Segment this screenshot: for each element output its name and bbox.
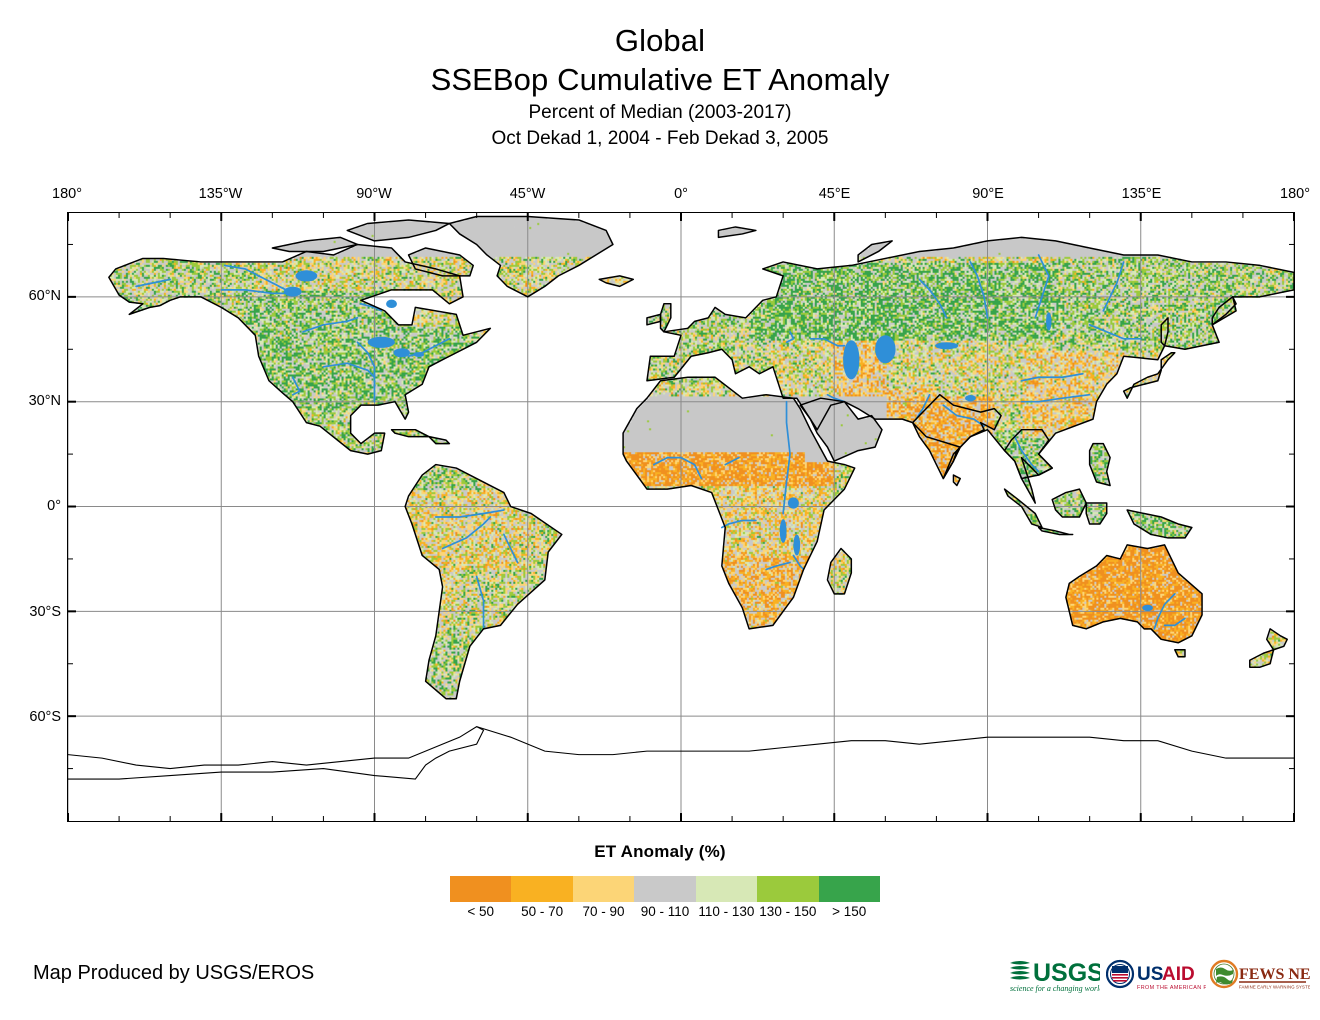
- coastline-madagascar: [827, 548, 851, 593]
- usaid-logo-text-aid: AID: [1162, 964, 1195, 985]
- lon-label-1: 135°W: [199, 186, 243, 202]
- globe-icon: [1211, 961, 1237, 987]
- lakes: [284, 270, 1153, 611]
- usgs-logo: USGS science for a changing world: [1008, 955, 1100, 995]
- coastline-new-zealand-s: [1250, 650, 1274, 667]
- lon-label-6: 90°E: [972, 186, 1004, 202]
- lon-label-8: 180°: [1280, 186, 1310, 202]
- lat-label-1: 30°N: [9, 393, 61, 409]
- legend-labels: < 5050 - 7070 - 9090 - 110110 - 130130 -…: [450, 904, 880, 924]
- coastline-ireland: [647, 314, 661, 324]
- legend-label-3: 90 - 110: [634, 904, 695, 924]
- rivers: [136, 255, 1185, 629]
- legend-swatch-0: [450, 876, 511, 902]
- fewsnet-logo: FEWS NET FAMINE EARLY WARNING SYSTEMS NE…: [1210, 955, 1310, 995]
- map-title-line2: SSEBop Cumulative ET Anomaly: [0, 60, 1320, 100]
- legend-label-6: > 150: [819, 904, 880, 924]
- logo-strip: USGS science for a changing world US: [1008, 955, 1308, 999]
- coastline-australia: [1066, 545, 1202, 643]
- usgs-logo-text: USGS: [1033, 959, 1100, 987]
- usaid-seal-icon: [1107, 961, 1133, 987]
- lon-label-0: 180°: [52, 186, 82, 202]
- fewsnet-logo-text: FEWS NET: [1239, 966, 1310, 983]
- legend-label-4: 110 - 130: [696, 904, 757, 924]
- coastline-kamchatka: [1212, 297, 1236, 325]
- lat-label-3: 30°S: [9, 604, 61, 620]
- map-title-line1: Global: [0, 22, 1320, 60]
- legend-label-0: < 50: [450, 904, 511, 924]
- map-subtitle-daterange: Oct Dekad 1, 2004 - Feb Dekad 3, 2005: [0, 126, 1320, 151]
- coastline-south-america: [405, 465, 562, 699]
- usgs-logo-graphic: USGS science for a changing world: [1008, 955, 1100, 995]
- legend-label-1: 50 - 70: [511, 904, 572, 924]
- lon-label-2: 90°W: [356, 186, 392, 202]
- legend-swatch-6: [819, 876, 880, 902]
- coastline-borneo: [1052, 489, 1086, 517]
- fewsnet-logo-tagline: FAMINE EARLY WARNING SYSTEMS NETWORK: [1239, 985, 1310, 990]
- coastline-uk: [661, 304, 671, 332]
- legend-title: ET Anomaly (%): [0, 842, 1320, 862]
- coastline-iceland: [599, 276, 633, 286]
- lon-label-4: 0°: [674, 186, 688, 202]
- legend-swatch-4: [696, 876, 757, 902]
- usaid-logo-text-us: US: [1137, 964, 1163, 985]
- lat-label-0: 60°N: [9, 288, 61, 304]
- coastline-cuba: [392, 430, 429, 437]
- coastline-africa: [623, 377, 855, 629]
- coastline-new-guinea: [1127, 510, 1192, 538]
- usaid-logo-graphic: US AID FROM THE AMERICAN PEOPLE: [1106, 955, 1206, 995]
- usaid-logo: US AID FROM THE AMERICAN PEOPLE: [1106, 955, 1206, 995]
- legend-label-5: 130 - 150: [757, 904, 818, 924]
- lon-label-7: 135°E: [1122, 186, 1162, 202]
- coastline-canada-arch2: [347, 220, 449, 241]
- map-subtitle-period: Percent of Median (2003-2017): [0, 100, 1320, 126]
- graticule: [68, 213, 1294, 821]
- map-vector-overlay: [68, 213, 1294, 821]
- legend-label-2: 70 - 90: [573, 904, 634, 924]
- coastline-new-zealand-n: [1267, 629, 1287, 650]
- legend: ET Anomaly (%) < 5050 - 7070 - 9090 - 11…: [0, 842, 1320, 862]
- map-frame: [67, 212, 1295, 822]
- fewsnet-logo-graphic: FEWS NET FAMINE EARLY WARNING SYSTEMS NE…: [1210, 955, 1310, 995]
- usaid-logo-tagline: FROM THE AMERICAN PEOPLE: [1137, 985, 1206, 991]
- coastline-arabia-gulf: [800, 398, 882, 461]
- coastline-baffin: [409, 248, 474, 276]
- coastline-europe-asia: [647, 237, 1294, 478]
- legend-swatch-5: [757, 876, 818, 902]
- legend-swatch-3: [634, 876, 695, 902]
- usgs-logo-tagline: science for a changing world: [1010, 984, 1100, 993]
- lon-label-5: 45°E: [819, 186, 851, 202]
- coastline-hispaniola: [429, 437, 449, 444]
- lat-label-2: 0°: [9, 498, 61, 514]
- coastline-sri-lanka: [953, 475, 960, 485]
- title-block: Global SSEBop Cumulative ET Anomaly Perc…: [0, 22, 1320, 151]
- legend-color-bar: [450, 876, 880, 902]
- legend-swatch-2: [573, 876, 634, 902]
- lon-label-3: 45°W: [510, 186, 546, 202]
- coastline-java: [1039, 527, 1073, 534]
- coastline-se-asia: [1005, 430, 1053, 503]
- coastline-sakhalin: [1161, 318, 1168, 346]
- coastline-sumatra: [1005, 489, 1042, 527]
- coastline-tasmania: [1175, 650, 1185, 657]
- map-page: Global SSEBop Cumulative ET Anomaly Perc…: [0, 0, 1320, 1020]
- legend-swatch-1: [511, 876, 572, 902]
- map-credit: Map Produced by USGS/EROS: [33, 962, 314, 985]
- lat-label-4: 60°S: [9, 709, 61, 725]
- coastline-philippines: [1090, 444, 1110, 486]
- coastline-greenland: [449, 216, 613, 296]
- coastline-svalbard: [718, 227, 755, 237]
